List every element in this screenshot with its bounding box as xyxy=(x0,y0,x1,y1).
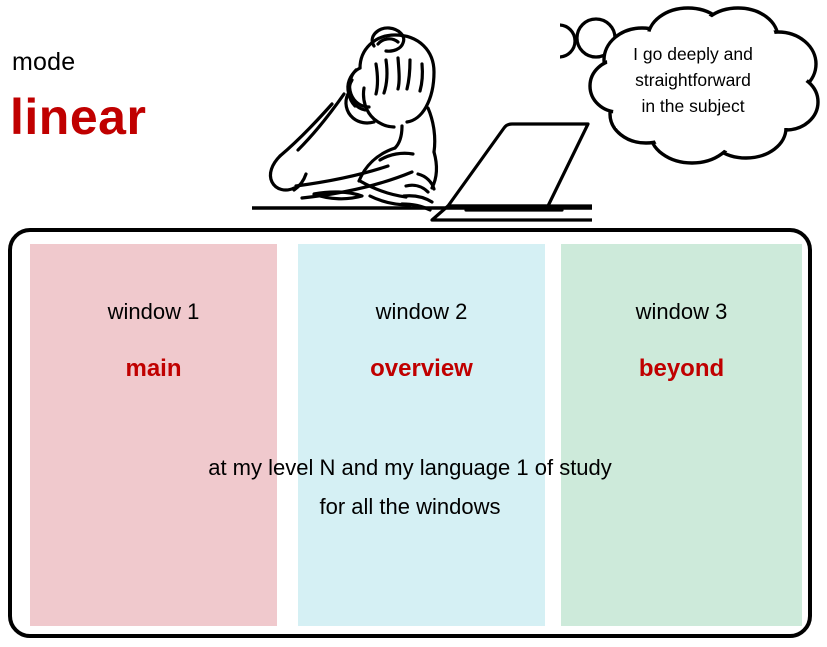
person-at-laptop-icon xyxy=(252,8,592,223)
windows-container: window 1 main window 2 overview window 3… xyxy=(8,228,812,638)
window-1-title: window 1 xyxy=(30,298,277,326)
window-2-title: window 2 xyxy=(298,298,545,326)
thought-trail-dot-4 xyxy=(560,25,575,57)
window-1-name: main xyxy=(30,354,277,384)
thought-text-line-1: I go deeply and xyxy=(598,41,788,67)
mode-value: linear xyxy=(10,88,146,146)
window-3-title: window 3 xyxy=(561,298,802,326)
window-panel-3[interactable]: window 3 beyond xyxy=(561,244,802,626)
mode-label: mode xyxy=(12,47,75,77)
window-panel-1[interactable]: window 1 main xyxy=(30,244,277,626)
thought-text-line-3: in the subject xyxy=(598,93,788,119)
window-panel-2[interactable]: window 2 overview xyxy=(298,244,545,626)
person-at-laptop-illustration xyxy=(252,8,592,223)
window-2-name: overview xyxy=(298,354,545,384)
thought-bubble-text: I go deeply and straightforward in the s… xyxy=(598,41,788,119)
window-3-name: beyond xyxy=(561,354,802,384)
thought-text-line-2: straightforward xyxy=(598,67,788,93)
